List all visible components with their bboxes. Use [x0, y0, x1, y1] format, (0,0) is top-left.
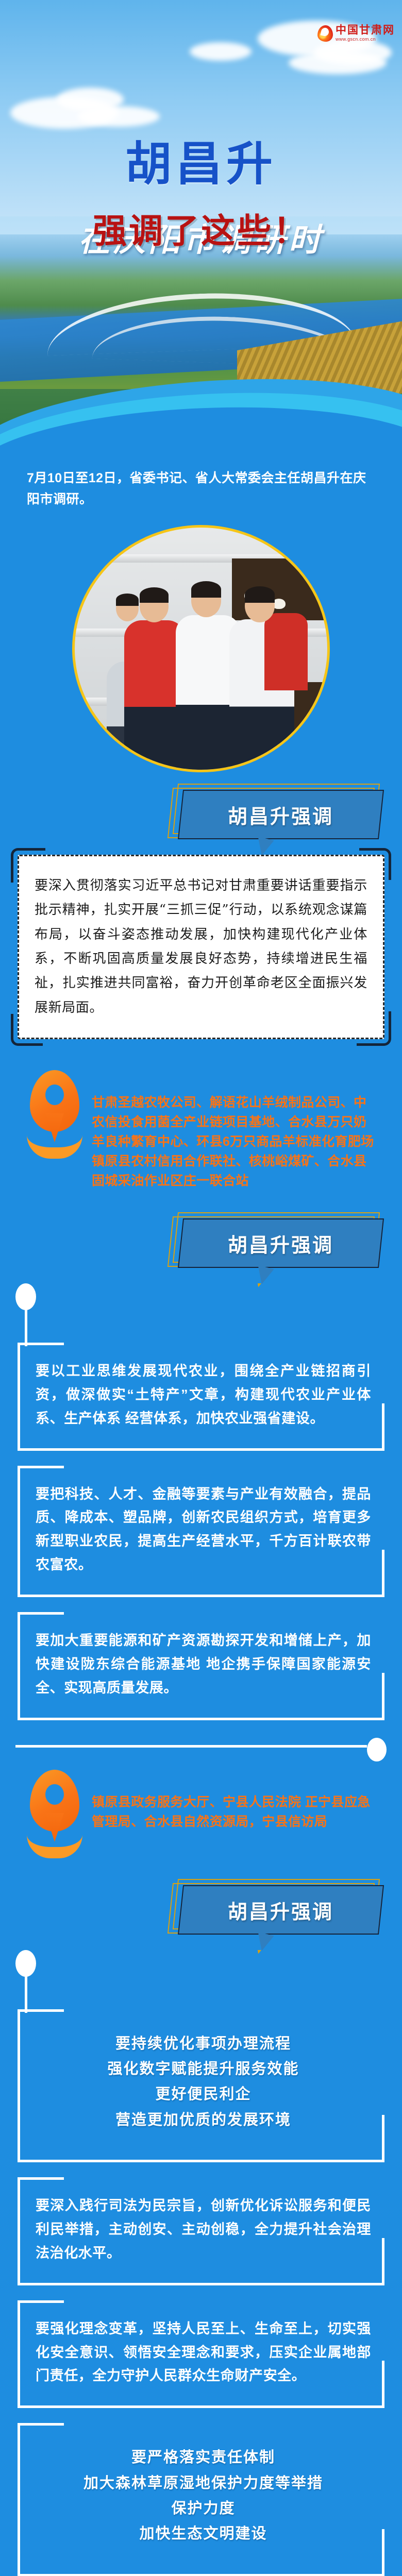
- statement-block-3-1: 要深入践行司法为民宗旨，创新优化诉讼服务和便民利民举措，主动创安、主动创稳，全力…: [18, 2180, 384, 2285]
- speaker-badge-row-3: 胡昌升强调: [0, 1873, 402, 1950]
- speaker-badge-label: 胡昌升强调: [228, 801, 333, 829]
- lollipop-marker: [15, 1950, 402, 2012]
- hero-emphasis: 强调了这些！: [0, 204, 402, 253]
- cloud-shape: [190, 42, 252, 61]
- brand-name: 中国甘肃网: [336, 25, 395, 36]
- headline-line: 要持续优化事项办理流程: [51, 2031, 356, 2057]
- pin-hole: [45, 1784, 64, 1805]
- statement-block-3-2: 要强化理念变革，坚持人民至上、生命至上，切实强化安全意识、领悟安全理念和要求，压…: [18, 2303, 384, 2409]
- photo-section: [0, 523, 402, 777]
- frame-right-edge: [382, 1403, 384, 1451]
- corner-decoration: [359, 848, 391, 880]
- statement-text: 要把科技、人才、金融等要素与产业有效融合，提品质、降成本、塑品牌，创新农民组织方…: [36, 1483, 371, 1578]
- pin-base-curve: [27, 1135, 82, 1159]
- lollipop-stem: [25, 1308, 27, 1346]
- frame-top-edge: [18, 2300, 64, 2303]
- hair-shape: [245, 586, 275, 603]
- connector-dot: [367, 1738, 387, 1761]
- hair-shape: [191, 581, 221, 598]
- headline-block-3b: 要严格落实责任体制 加大森林草原湿地保护力度等举措 保护力度 加快生态文明建设: [18, 2426, 384, 2576]
- speaker-badge-label: 胡昌升强调: [228, 1895, 333, 1924]
- frame-top-edge: [18, 2177, 64, 2180]
- hero-banner: 中国甘肃网 www.gscn.com.cn 胡昌升 在庆阳市调研时 强调了这些！: [0, 0, 402, 464]
- pin-base-curve: [27, 1835, 82, 1858]
- lollipop-head: [15, 1283, 36, 1310]
- headline-group: 要持续优化事项办理流程 强化数字赋能提升服务效能 更好便民利企 营造更加优质的发…: [36, 2026, 371, 2142]
- horizontal-connector-1: [15, 1738, 387, 1756]
- location-list-1: 甘肃圣越农牧公司、解语花山羊绒制品公司、中农信投食用菌全产业链项目基地、合水县万…: [92, 1070, 378, 1191]
- headline-group-2: 要严格落实责任体制 加大森林草原湿地保护力度等举措 保护力度 加快生态文明建设: [36, 2440, 371, 2556]
- brand-url: www.gscn.com.cn: [336, 37, 395, 42]
- frame-right-edge: [382, 1673, 384, 1720]
- location-pin-icon: [27, 1770, 82, 1857]
- speaker-badge-row-1: 胡昌升强调: [0, 777, 402, 855]
- lead-paragraph: 7月10日至12日，省委书记、省人大常委会主任胡昌升在庆阳市调研。: [27, 468, 375, 510]
- frame-top-edge: [18, 1343, 64, 1345]
- headline-line: 保护力度: [51, 2496, 356, 2521]
- flame-icon: [317, 25, 333, 42]
- statement-text: 要深入践行司法为民宗旨，创新优化诉讼服务和便民利民举措，主动创安、主动创稳，全力…: [36, 2194, 371, 2265]
- hair-shape: [140, 587, 169, 603]
- location-row-2: 镇原县政务服务大厅、宁县人民法院 正宁县应急管理局、合水县自然资源局，宁县信访局: [0, 1756, 402, 1873]
- speaker-badge: 胡昌升强调: [178, 790, 384, 839]
- quote-text: 要深入贯彻落实习近平总书记对甘肃重要讲话重要指示批示精神，扎实开展“三抓三促”行…: [35, 874, 367, 1020]
- statement-text: 要强化理念变革，坚持人民至上、生命至上，切实强化安全意识、领悟安全理念和要求，压…: [36, 2317, 371, 2388]
- lollipop-stem: [25, 1975, 27, 2013]
- location-pin-icon: [27, 1070, 82, 1158]
- connector-bar: [15, 1745, 367, 1748]
- frame-right-edge: [382, 2529, 384, 2576]
- page-title: 胡昌升: [0, 126, 402, 193]
- speaker-badge-label: 胡昌升强调: [228, 1229, 333, 1257]
- speaker-badge: 胡昌升强调: [178, 1885, 384, 1935]
- quote-card-1: 要深入贯彻落实习近平总书记对甘肃重要讲话重要指示批示精神，扎实开展“三抓三促”行…: [18, 855, 384, 1039]
- lead-paragraph-block: 7月10日至12日，省委书记、省人大常委会主任胡昌升在庆阳市调研。: [0, 464, 402, 523]
- statement-block-2-1: 要以工业思维发展现代农业，围绕全产业链招商引资，做深做实“土特产”文章，构建现代…: [18, 1345, 384, 1451]
- frame-top-edge: [18, 2009, 64, 2012]
- corner-decoration: [11, 1014, 43, 1046]
- cloud-shape: [77, 106, 160, 127]
- headline-line: 更好便民利企: [51, 2082, 356, 2107]
- speaker-badge: 胡昌升强调: [178, 1218, 384, 1268]
- location-row-1: 甘肃圣越农牧公司、解语花山羊绒制品公司、中农信投食用菌全产业链项目基地、合水县万…: [0, 1057, 402, 1206]
- cloud-shape: [289, 52, 387, 74]
- headline-block-3: 要持续优化事项办理流程 强化数字赋能提升服务效能 更好便民利企 营造更加优质的发…: [18, 2012, 384, 2162]
- headline-line: 加快生态文明建设: [51, 2521, 356, 2547]
- frame-top-edge: [18, 1466, 64, 1468]
- headline-line: 要严格落实责任体制: [51, 2445, 356, 2470]
- frame-right-edge: [382, 2238, 384, 2285]
- headline-line: 加大森林草原湿地保护力度等举措: [51, 2471, 356, 2496]
- inspection-photo: [72, 525, 330, 772]
- location-list-2: 镇原县政务服务大厅、宁县人民法院 正宁县应急管理局、合水县自然资源局，宁县信访局: [92, 1770, 378, 1832]
- statement-text: 要以工业思维发展现代农业，围绕全产业链招商引资，做深做实“土特产”文章，构建现代…: [36, 1360, 371, 1431]
- hair-shape: [116, 594, 139, 606]
- frame-right-edge: [382, 1550, 384, 1597]
- pin-hole: [45, 1084, 64, 1105]
- site-logo[interactable]: 中国甘肃网 www.gscn.com.cn: [317, 25, 395, 42]
- statement-block-2-2: 要把科技、人才、金融等要素与产业有效融合，提品质、降成本、塑品牌，创新农民组织方…: [18, 1468, 384, 1598]
- statement-block-2-3: 要加大重要能源和矿产资源勘探开发和增储上产，加快建设陇东综合能源基地 地企携手保…: [18, 1615, 384, 1720]
- headline-line: 强化数字赋能提升服务效能: [51, 2057, 356, 2082]
- frame-top-edge: [18, 2423, 64, 2426]
- lollipop-head: [15, 1950, 36, 1977]
- lollipop-marker: [15, 1283, 402, 1345]
- headline-line: 营造更加优质的发展环境: [51, 2108, 356, 2133]
- frame-right-edge: [382, 2115, 384, 2162]
- statement-text: 要加大重要能源和矿产资源勘探开发和增储上产，加快建设陇东综合能源基地 地企携手保…: [36, 1629, 371, 1700]
- speaker-badge-row-2: 胡昌升强调: [0, 1206, 402, 1283]
- frame-top-edge: [18, 1612, 64, 1615]
- person-figure-background: [264, 613, 308, 690]
- frame-right-edge: [382, 2361, 384, 2408]
